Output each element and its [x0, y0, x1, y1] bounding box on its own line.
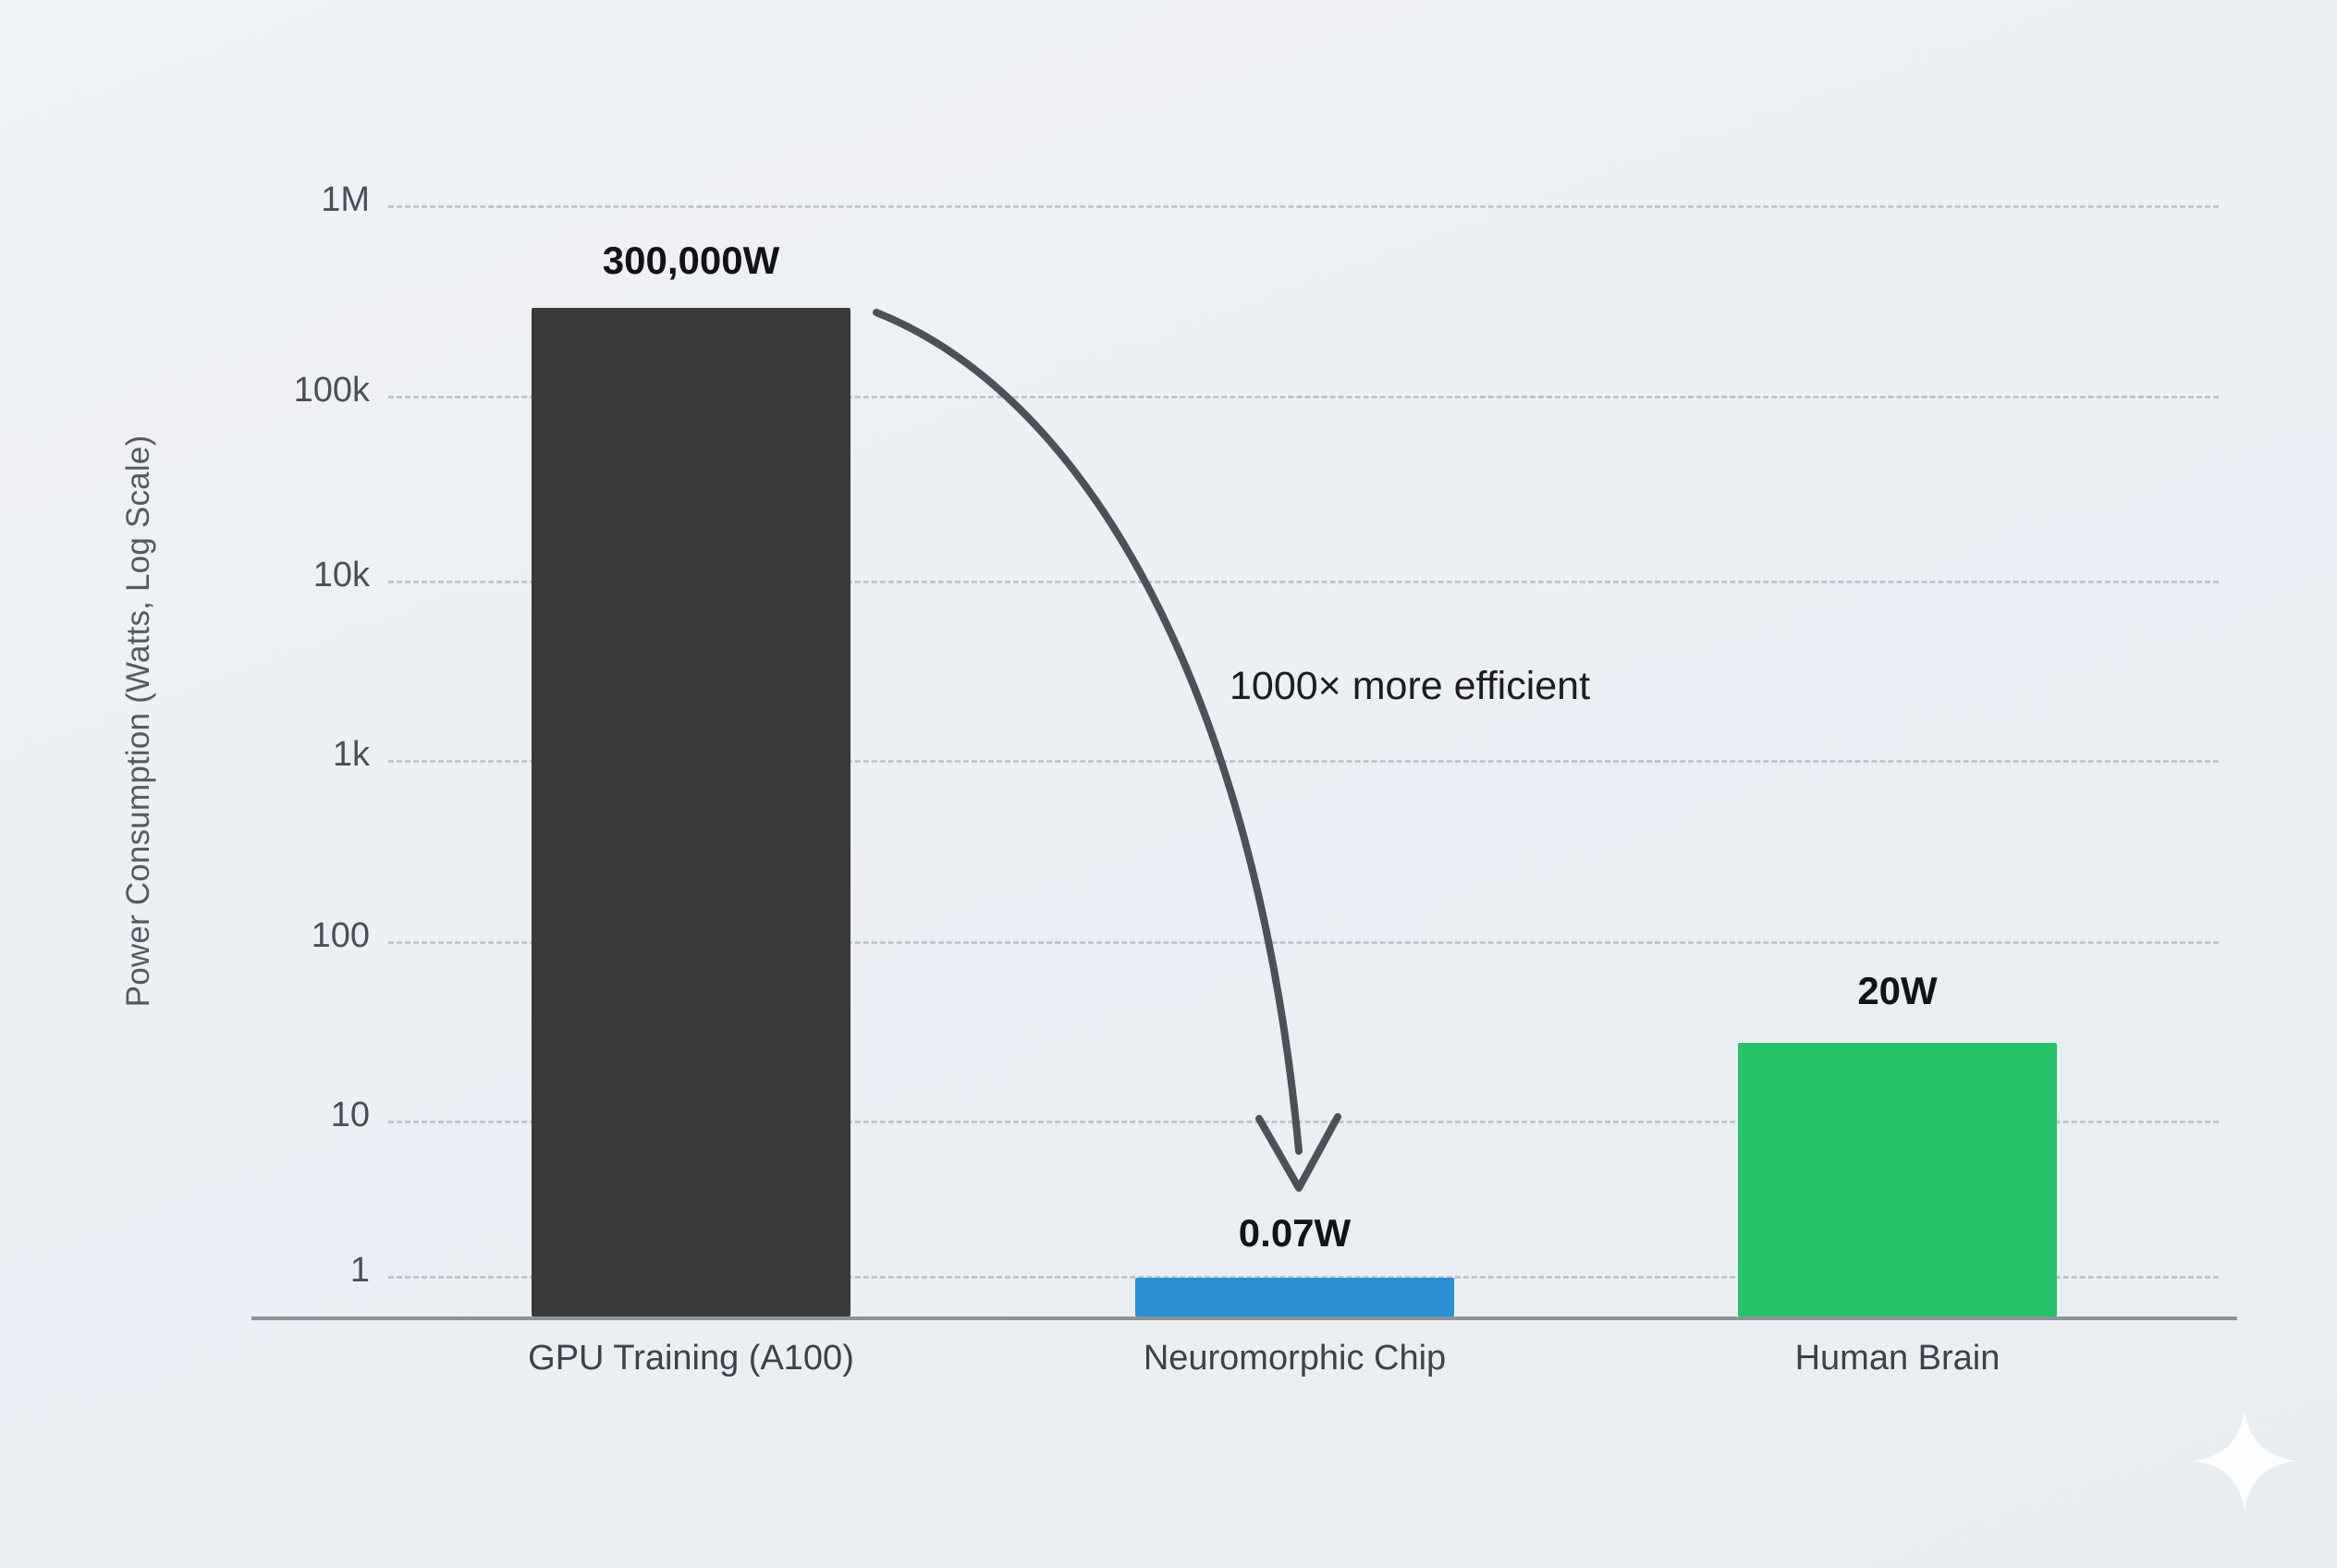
bar-human-brain[interactable] — [1738, 1043, 2057, 1317]
x-axis-label-neuromorphic-chip: Neuromorphic Chip — [1066, 1339, 1523, 1378]
bar-value-neuromorphic-chip: 0.07W — [1135, 1211, 1454, 1256]
y-axis-title: Power Consumption (Watts, Log Scale) — [120, 370, 157, 1072]
y-tick-label-10k: 10k — [176, 556, 370, 595]
y-tick-label-1k: 1k — [176, 735, 370, 775]
y-tick-label-1: 1 — [176, 1251, 370, 1291]
x-axis-line — [251, 1317, 2237, 1320]
bar-chart: Power Consumption (Watts, Log Scale) 1M … — [0, 0, 2337, 1568]
x-axis-label-gpu-training: GPU Training (A100) — [462, 1339, 920, 1378]
y-tick-label-10: 10 — [176, 1096, 370, 1135]
bar-neuromorphic-chip[interactable] — [1135, 1278, 1454, 1317]
y-tick-label-100: 100 — [176, 916, 370, 956]
annotation-label-efficiency: 1000× more efficient — [1230, 664, 1590, 709]
bar-value-human-brain: 20W — [1738, 969, 2057, 1013]
x-axis-label-human-brain: Human Brain — [1669, 1339, 2126, 1378]
efficiency-arrow-icon — [0, 0, 2337, 1568]
gridline-1m — [388, 205, 2219, 208]
y-tick-label-1m: 1M — [176, 180, 370, 220]
bar-gpu-training[interactable] — [532, 308, 850, 1317]
y-tick-label-100k: 100k — [176, 371, 370, 410]
bar-value-gpu-training: 300,000W — [532, 239, 850, 283]
sparkle-icon — [2189, 1405, 2300, 1516]
